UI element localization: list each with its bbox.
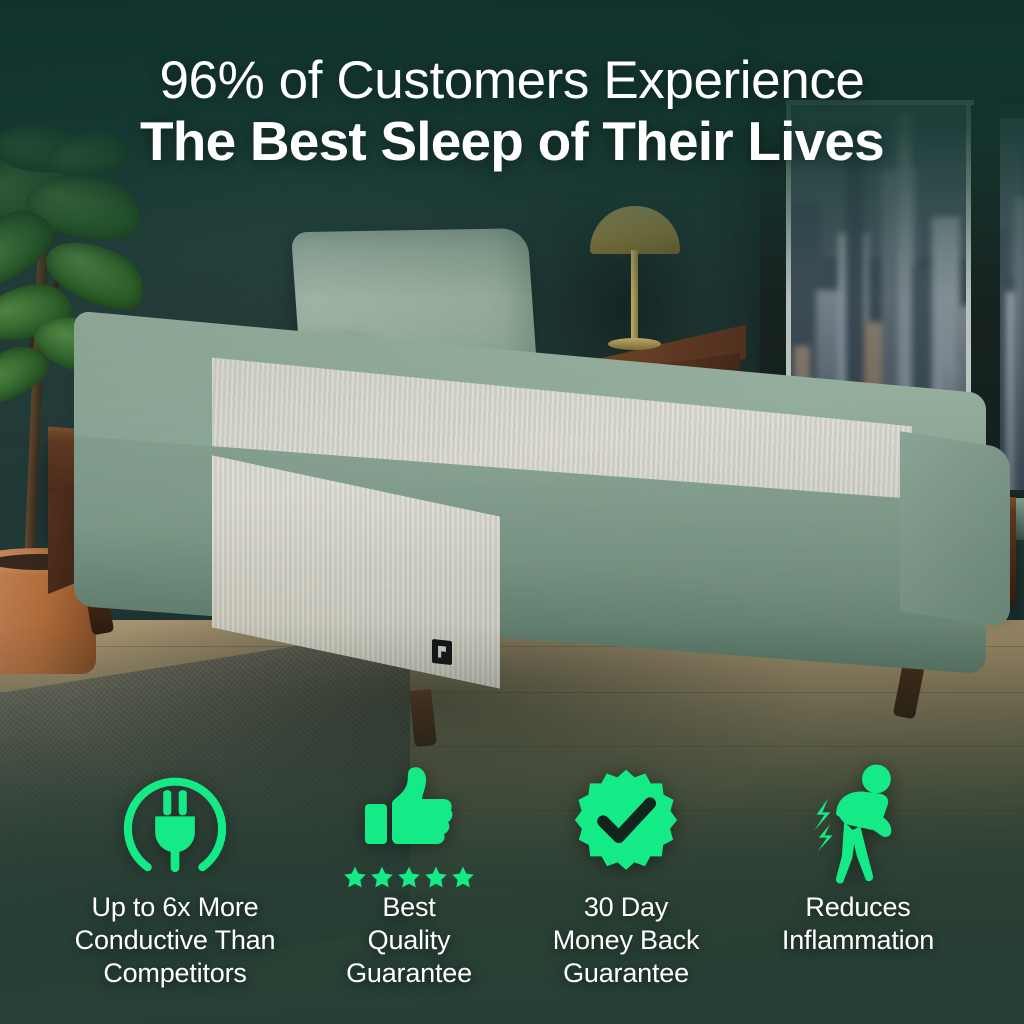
feature-1-label-line-2: Conductive Than	[71, 924, 280, 957]
feature-inflammation: Reduces Inflammation	[738, 759, 978, 957]
verified-check-badge-icon	[566, 765, 686, 885]
feature-3-label-line-3: Guarantee	[559, 957, 693, 990]
feature-row: Up to 6x More Conductive Than Competitor…	[0, 759, 1024, 990]
feature-4-icon-box	[738, 759, 978, 891]
feature-quality: Best Quality Guarantee	[304, 759, 514, 990]
thumbs-up-icon	[359, 766, 459, 858]
headline-block: 96% of Customers Experience The Best Sle…	[0, 52, 1024, 172]
star-icon-5	[451, 865, 475, 889]
headline-line-1: 96% of Customers Experience	[46, 52, 978, 110]
person-back-pain-icon	[800, 764, 916, 886]
feature-1-label-line-1: Up to 6x More	[88, 891, 263, 924]
star-icon-2	[370, 865, 394, 889]
feature-4-label-line-2: Inflammation	[778, 924, 938, 957]
star-icon-4	[424, 865, 448, 889]
feature-conductivity: Up to 6x More Conductive Than Competitor…	[46, 759, 304, 990]
five-star-rating	[343, 865, 475, 889]
feature-2-label-line-1: Best	[378, 891, 439, 924]
power-plug-in-circle-icon	[113, 763, 237, 887]
feature-4-label-line-1: Reduces	[801, 891, 914, 924]
feature-3-label-line-2: Money Back	[549, 924, 704, 957]
feature-2-label-line-2: Quality	[364, 924, 455, 957]
feature-3-icon-box	[514, 759, 738, 891]
feature-money-back: 30 Day Money Back Guarantee	[514, 759, 738, 990]
star-icon-1	[343, 865, 367, 889]
feature-2-label-line-3: Guarantee	[342, 957, 476, 990]
feature-3-label-line-1: 30 Day	[580, 891, 672, 924]
feature-2-icon-box	[304, 759, 514, 891]
feature-1-label-line-3: Competitors	[99, 957, 250, 990]
feature-1-icon-box	[46, 759, 304, 891]
star-icon-3	[397, 865, 421, 889]
headline-line-2: The Best Sleep of Their Lives	[46, 110, 978, 172]
advertisement-root: 96% of Customers Experience The Best Sle…	[0, 0, 1024, 1024]
